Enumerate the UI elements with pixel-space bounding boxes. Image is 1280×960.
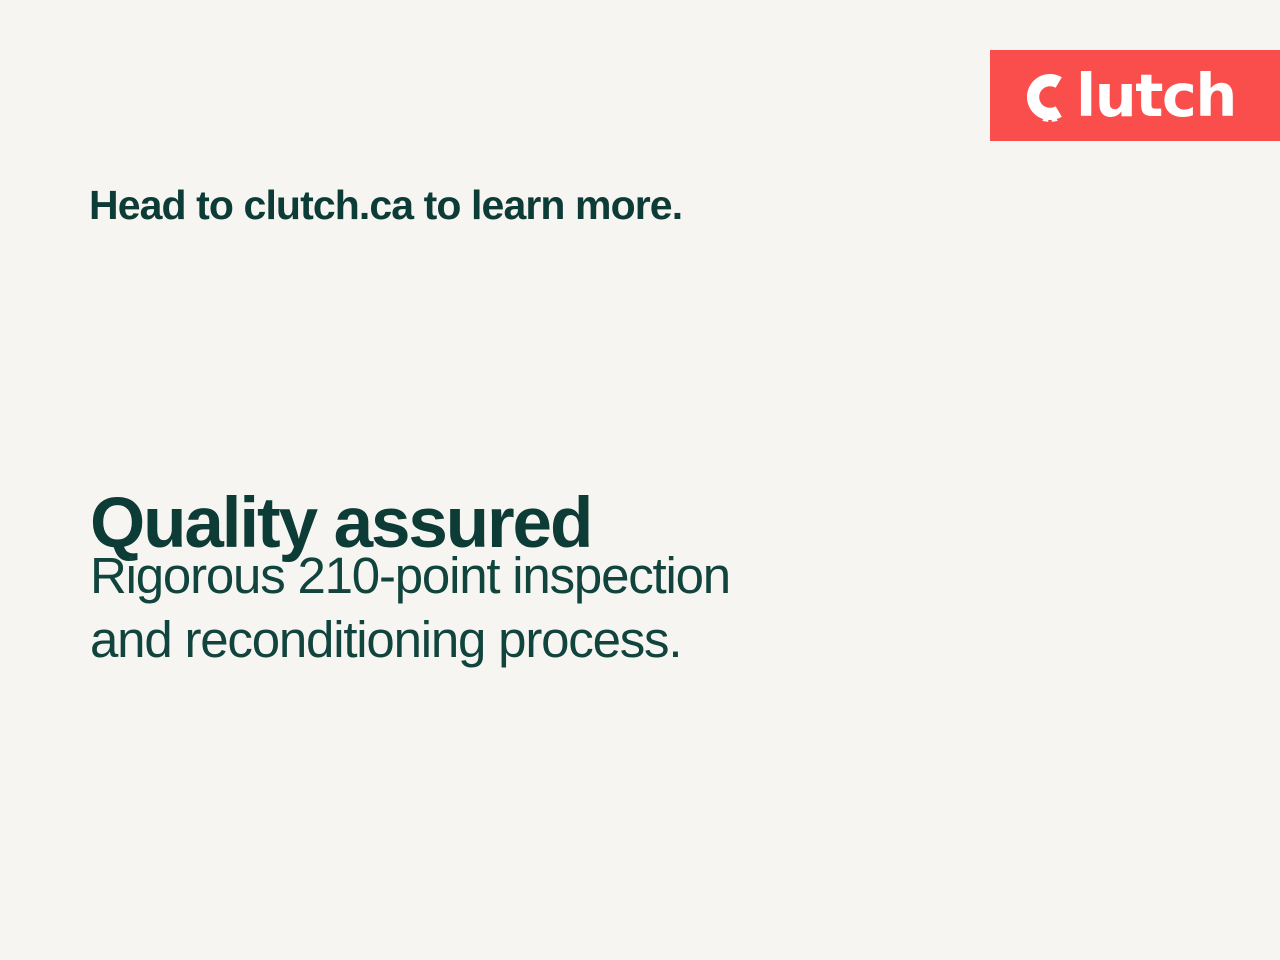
clutch-c-wheel-mark [1025, 72, 1075, 122]
body-copy: Rigorous 210-point inspection and recond… [90, 544, 730, 673]
clutch-logo-lockup: lutch [1025, 66, 1236, 125]
body-copy-line-1: Rigorous 210-point inspection [90, 544, 730, 608]
clutch-wordmark: lutch [1076, 66, 1236, 125]
promo-slide: lutch Head to clutch.ca to learn more. Q… [0, 0, 1280, 960]
body-copy-line-2: and reconditioning process. [90, 608, 730, 672]
clutch-brand-badge[interactable]: lutch [990, 50, 1280, 141]
eyebrow-text: Head to clutch.ca to learn more. [89, 182, 682, 229]
